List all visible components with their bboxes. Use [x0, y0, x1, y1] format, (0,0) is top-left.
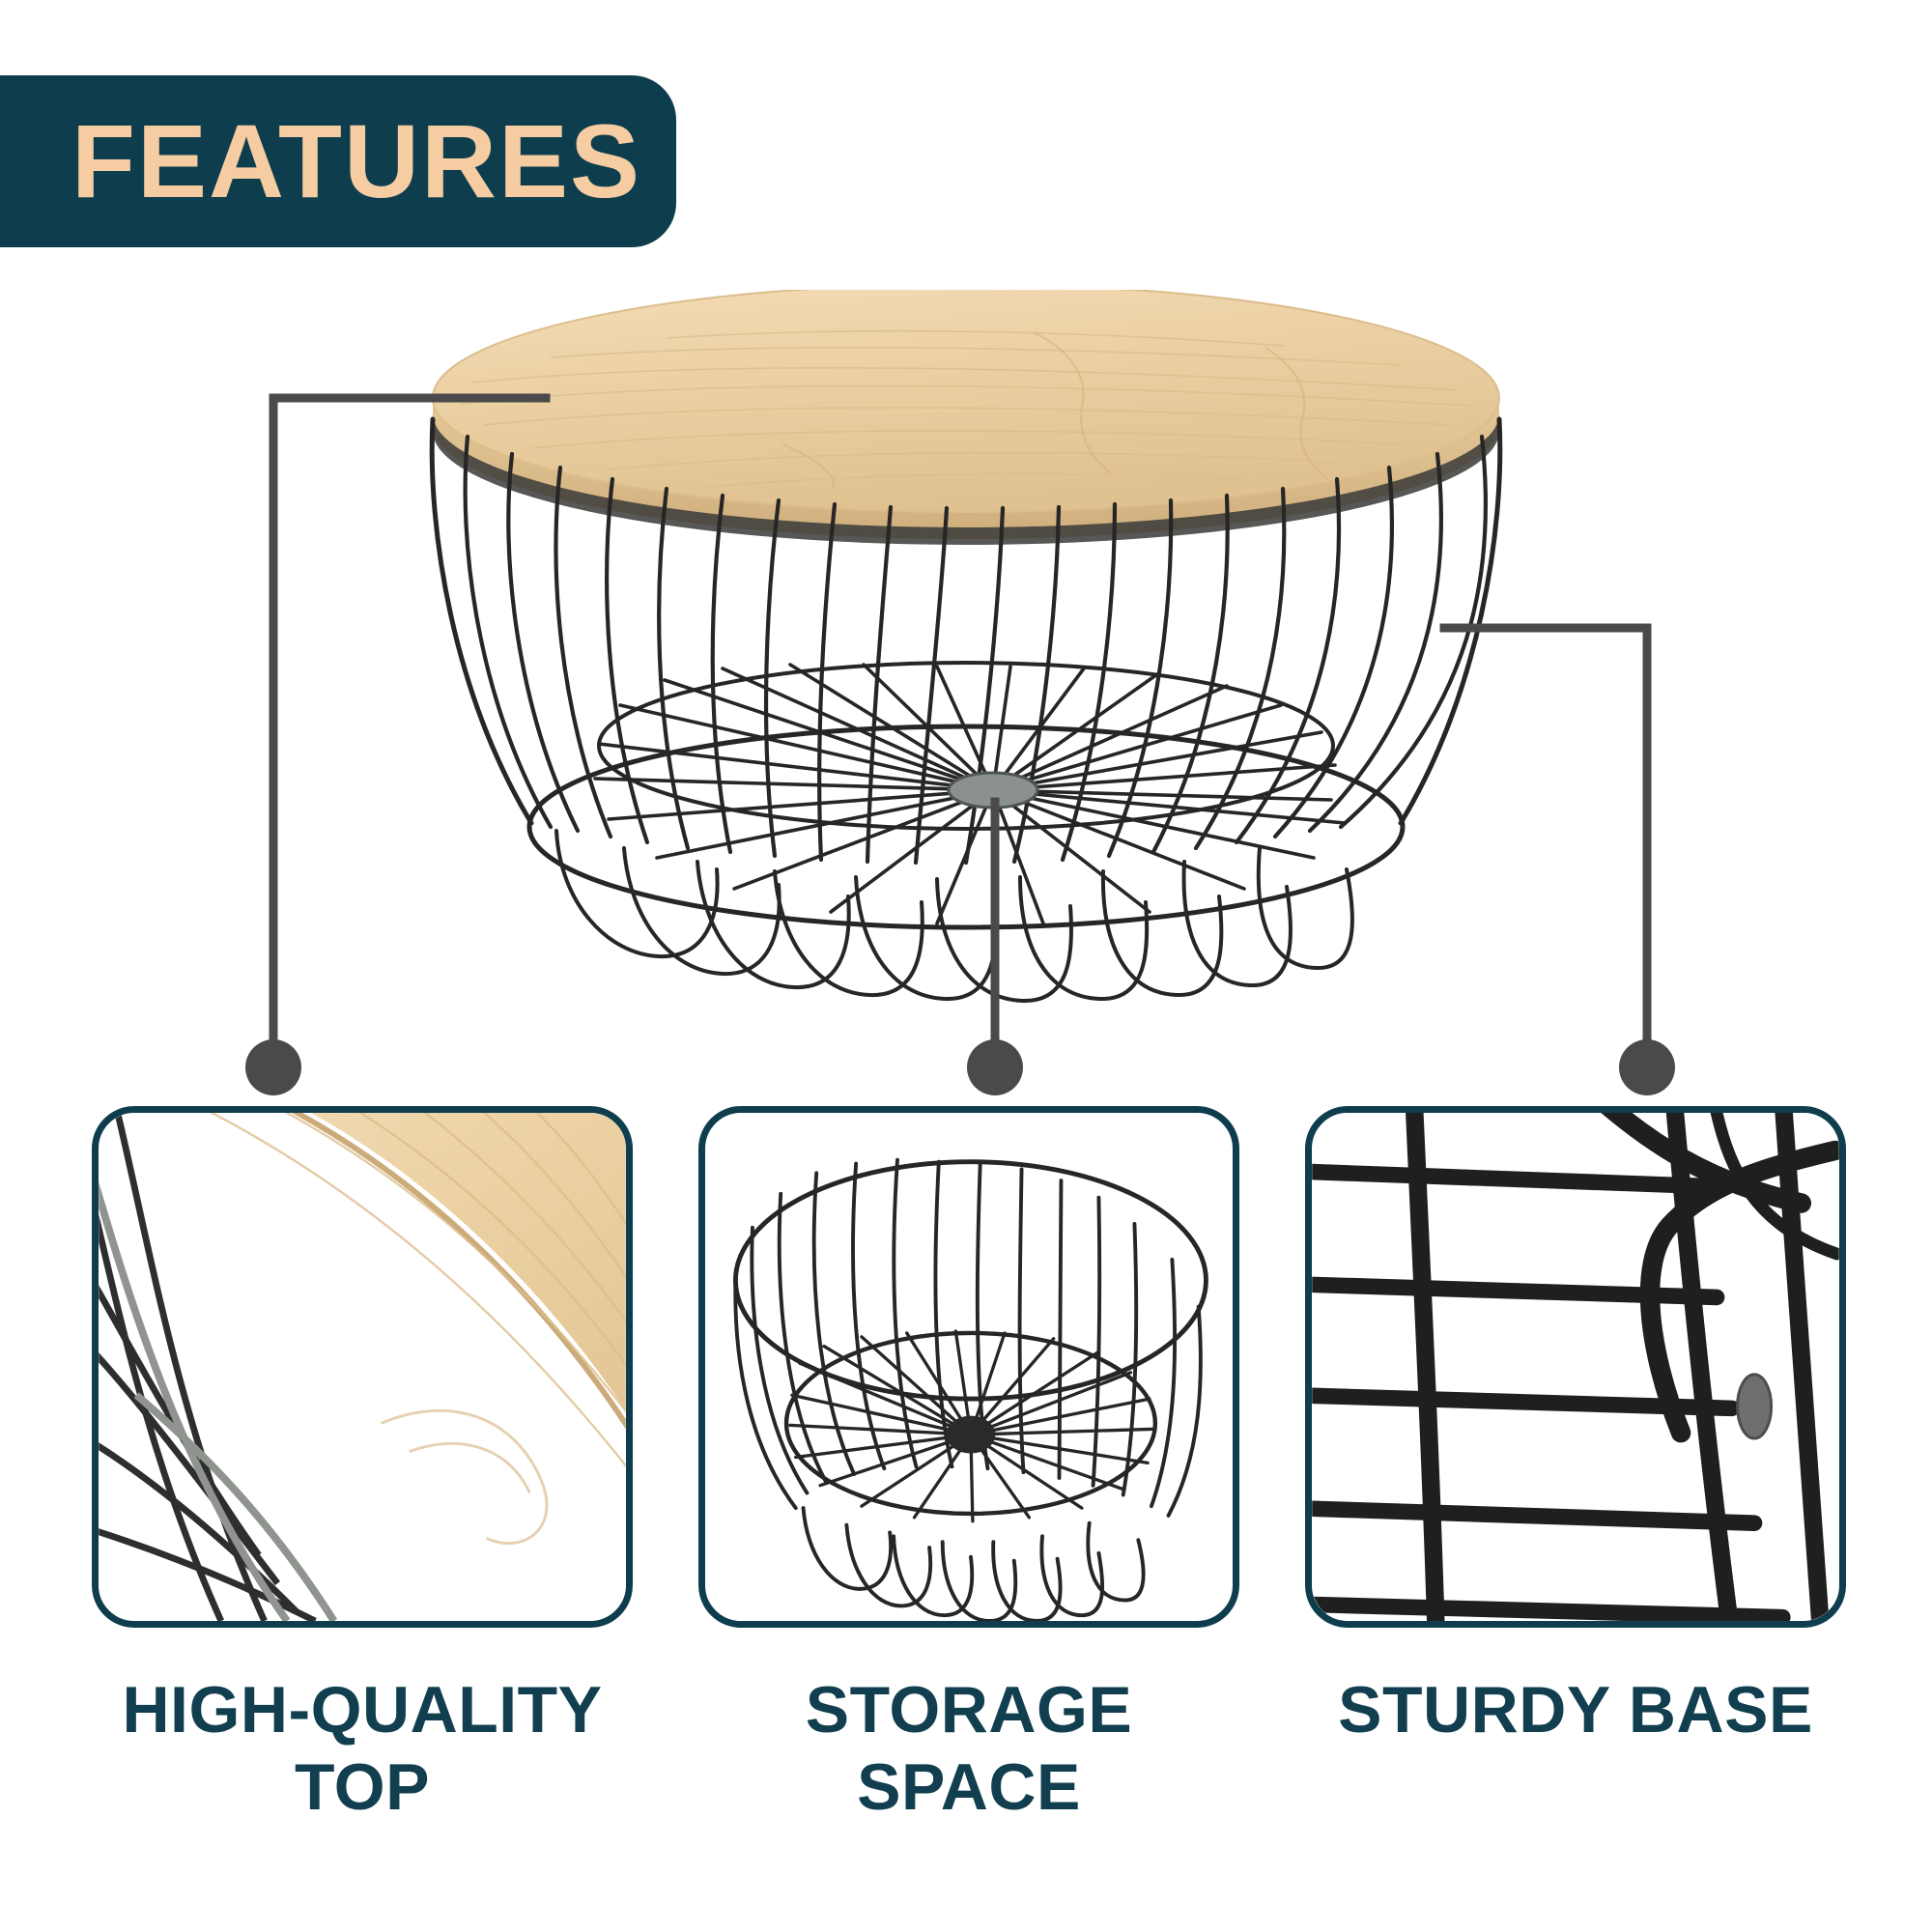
- caption-sturdy-base: STURDY BASE: [1276, 1671, 1875, 1748]
- page-title: FEATURES: [71, 109, 641, 213]
- features-banner: FEATURES: [0, 75, 676, 247]
- feature-cards: [0, 1106, 1932, 1628]
- feature-card-storage-space[interactable]: [698, 1106, 1239, 1628]
- feature-card-high-quality-top[interactable]: [92, 1106, 633, 1628]
- feature-card-sturdy-base[interactable]: [1305, 1106, 1846, 1628]
- caption-high-quality-top: HIGH-QUALITY TOP: [63, 1671, 662, 1826]
- callout-dot-top: [245, 1039, 301, 1095]
- callout-dot-base: [1619, 1039, 1675, 1095]
- caption-storage-space: STORAGE SPACE: [669, 1671, 1268, 1826]
- base-foot-pad: [1738, 1375, 1772, 1438]
- hero-product-image: [415, 290, 1517, 1005]
- infographic-stage: FEATURES: [0, 0, 1932, 1932]
- feature-captions: HIGH-QUALITY TOP STORAGE SPACE STURDY BA…: [0, 1671, 1932, 1913]
- callout-dot-storage: [967, 1039, 1023, 1095]
